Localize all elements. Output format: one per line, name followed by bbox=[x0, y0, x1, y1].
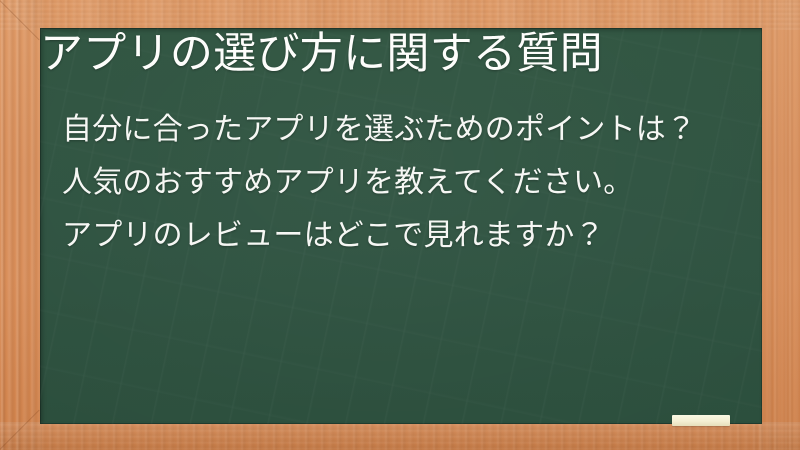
frame-grain-left bbox=[0, 0, 42, 450]
chalkboard-surface: アプリの選び方に関する質問 自分に合ったアプリを選ぶためのポイントは？ 人気のお… bbox=[40, 28, 762, 424]
list-item: 自分に合ったアプリを選ぶためのポイントは？ bbox=[62, 103, 742, 156]
frame-grain-bottom-ledge bbox=[0, 422, 800, 450]
page-title: アプリの選び方に関する質問 bbox=[40, 30, 740, 78]
list-item: アプリのレビューはどこで見れますか？ bbox=[62, 209, 742, 262]
list-item: 人気のおすすめアプリを教えてください。 bbox=[62, 156, 742, 209]
frame-grain-top bbox=[0, 0, 800, 30]
blackboard-slide: アプリの選び方に関する質問 自分に合ったアプリを選ぶためのポイントは？ 人気のお… bbox=[0, 0, 800, 450]
chalk-stick bbox=[672, 415, 730, 426]
frame-grain-right bbox=[758, 0, 800, 450]
question-list: 自分に合ったアプリを選ぶためのポイントは？ 人気のおすすめアプリを教えてください… bbox=[62, 103, 742, 262]
